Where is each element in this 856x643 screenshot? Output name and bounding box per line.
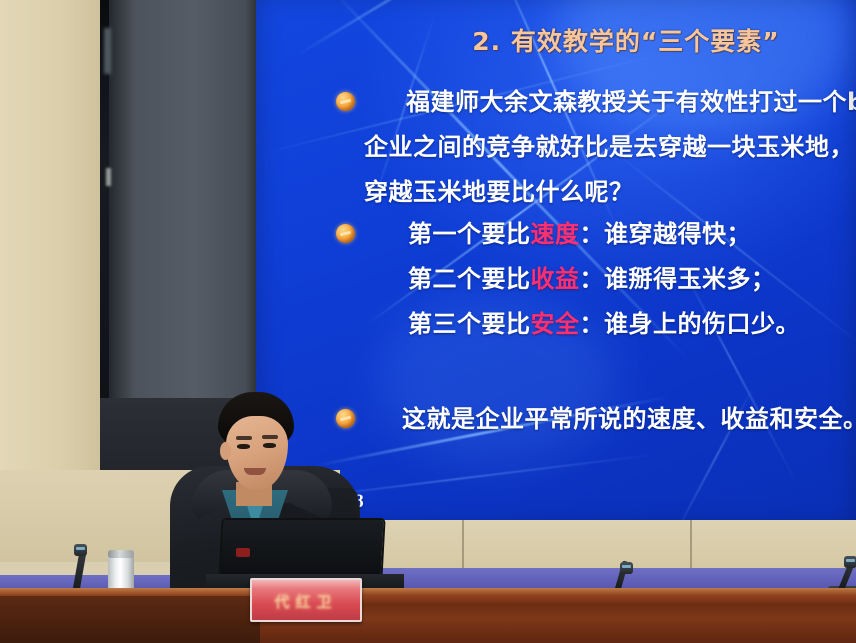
slide-keyword: 收益 <box>531 265 580 293</box>
slide-line: 第一个要比速度：谁穿越得快； <box>408 212 800 257</box>
slide-line-text: 第二个要比 <box>408 265 531 293</box>
nameplate: 代红卫 <box>250 578 362 622</box>
slide-line-text: ：谁掰得玉米多； <box>580 265 776 293</box>
slide-block-1: 福建师大余文森教授关于有效性打过一个b 企业之间的竞争就好比是去穿越一块玉米地，… <box>368 80 856 215</box>
presenter-brow <box>236 436 252 440</box>
podium-desk-edge <box>0 588 856 595</box>
slide-line: 第二个要比收益：谁掰得玉米多； <box>408 257 800 302</box>
slide-line-text: ：谁穿越得快； <box>580 220 752 248</box>
presenter-eye <box>263 443 276 448</box>
slide-bullet-icon <box>336 92 355 111</box>
slide-line-text: ：谁身上的伤口少。 <box>580 310 801 338</box>
presenter-mouth <box>244 468 266 475</box>
podium-front-panel <box>0 596 260 643</box>
slide-bullet-icon <box>336 224 355 243</box>
column-highlight-upper <box>104 28 111 74</box>
column-highlight <box>106 168 111 186</box>
slide-title: 2. 有效教学的“三个要素” <box>416 22 836 58</box>
microphone-head <box>620 562 633 574</box>
microphone-head <box>74 544 87 556</box>
slide-line: 这就是企业平常所说的速度、收益和安全。 <box>402 397 856 442</box>
presenter-eye <box>237 444 250 449</box>
presenter-brow <box>262 435 278 439</box>
laptop-logo <box>236 548 250 557</box>
slide-line: 第三个要比安全：谁身上的伤口少。 <box>408 302 800 347</box>
slide-line-text: 第三个要比 <box>408 310 531 338</box>
slide-line: 福建师大余文森教授关于有效性打过一个b <box>406 80 856 125</box>
microphone-head <box>844 556 856 568</box>
slide-line: 穿越玉米地要比什么呢？ <box>364 170 854 215</box>
slide-line-text: 第一个要比 <box>408 220 531 248</box>
slide-keyword: 安全 <box>531 310 580 338</box>
thermos-cap <box>108 550 134 558</box>
slide-block-3: 这就是企业平常所说的速度、收益和安全。 <box>402 397 856 442</box>
slide-block-2: 第一个要比速度：谁穿越得快； 第二个要比收益：谁掰得玉米多； 第三个要比安全：谁… <box>408 212 800 347</box>
nameplate-text: 代红卫 <box>252 591 360 612</box>
slide-keyword: 速度 <box>531 220 580 248</box>
presenter-ear <box>220 442 231 460</box>
left-wall <box>0 0 104 540</box>
lecture-photo-scene: 2. 有效教学的“三个要素” 福建师大余文森教授关于有效性打过一个b 企业之间的… <box>0 0 856 643</box>
slide-line: 企业之间的竞争就好比是去穿越一块玉米地， <box>364 125 854 170</box>
